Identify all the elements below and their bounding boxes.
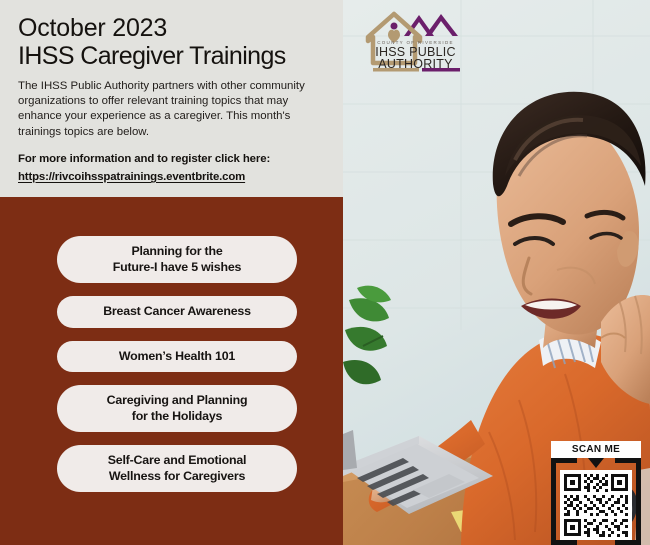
flyer-poster: October 2023 IHSS Caregiver Trainings Th… [0,0,650,545]
logo-mark-icon: COUNTY OF RIVERSIDE IHSS PUBLIC AUTHORIT… [363,6,463,72]
topic-pill[interactable]: Women’s Health 101 [57,341,297,373]
cta-label: For more information and to register cli… [18,152,327,167]
topics-list: Planning for the Future-I have 5 wishes … [57,236,297,492]
page-title-main: IHSS Caregiver Trainings [18,42,327,70]
registration-link[interactable]: https://rivcoihsspatrainings.eventbrite.… [18,170,245,185]
intro-paragraph: The IHSS Public Authority partners with … [18,79,321,140]
scan-me-label: SCAN ME [572,444,620,455]
cta-block: For more information and to register cli… [18,152,327,185]
topic-pill[interactable]: Caregiving and Planning for the Holidays [57,385,297,432]
qr-code-frame [551,458,641,545]
qr-code-block[interactable]: SCAN ME [551,441,643,545]
topic-pill-label: Caregiving and Planning for the Holidays [107,393,248,424]
topic-pill-label: Self-Care and Emotional Wellness for Car… [108,453,247,484]
page-title-month: October 2023 [18,14,327,42]
topic-pill-label: Planning for the Future-I have 5 wishes [113,244,242,275]
topic-pill[interactable]: Breast Cancer Awareness [57,296,297,328]
scan-me-banner: SCAN ME [551,441,641,458]
topic-pill-label: Women’s Health 101 [119,349,235,365]
logo-eyebrow-text: COUNTY OF RIVERSIDE [377,40,454,45]
ihss-public-authority-logo: COUNTY OF RIVERSIDE IHSS PUBLIC AUTHORIT… [363,6,463,72]
topic-pill[interactable]: Planning for the Future-I have 5 wishes [57,236,297,283]
header-panel: October 2023 IHSS Caregiver Trainings Th… [0,0,343,197]
topic-pill-label: Breast Cancer Awareness [103,304,251,320]
topic-pill[interactable]: Self-Care and Emotional Wellness for Car… [57,445,297,492]
topics-panel: Planning for the Future-I have 5 wishes … [0,197,343,545]
qr-code-icon[interactable] [551,458,641,545]
left-column: October 2023 IHSS Caregiver Trainings Th… [0,0,343,545]
